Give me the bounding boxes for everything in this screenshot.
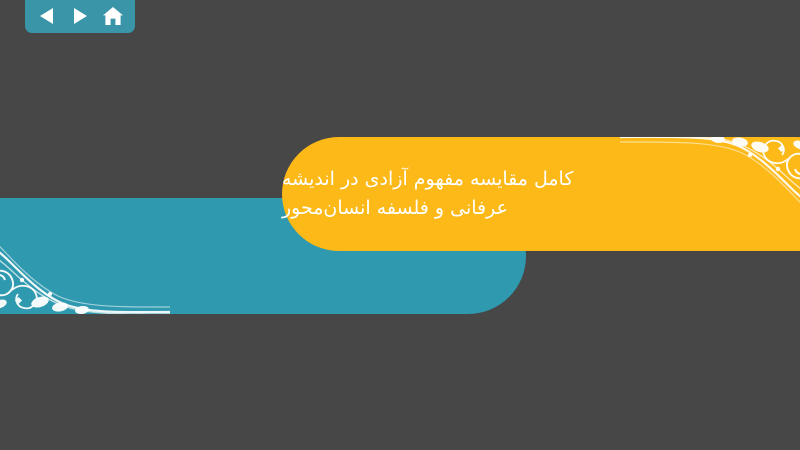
title-line-2: عرفانی و فلسفه انسان‌محور xyxy=(282,194,508,223)
home-icon xyxy=(103,7,123,26)
presentation-slide: کامل مقایسه مفهوم آزادی در اندیشه عرفانی… xyxy=(0,0,800,450)
teal-arabesque-ornament-icon xyxy=(0,198,170,314)
forward-button[interactable] xyxy=(67,4,93,28)
title-line-1: کامل مقایسه مفهوم آزادی در اندیشه xyxy=(282,165,573,194)
back-button[interactable] xyxy=(34,4,60,28)
forward-triangle-icon xyxy=(72,7,88,25)
home-button[interactable] xyxy=(100,4,126,28)
back-triangle-icon xyxy=(39,7,55,25)
slide-title: کامل مقایسه مفهوم آزادی در اندیشه عرفانی… xyxy=(282,137,682,251)
navigation-toolbar xyxy=(25,0,135,33)
